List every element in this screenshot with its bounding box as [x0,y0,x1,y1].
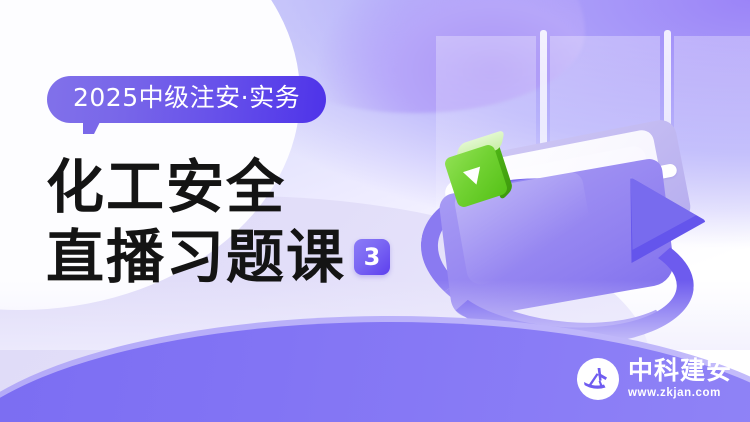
headline-line-2: 直播习题课 3 [46,222,466,292]
logo-website-url: www.zkjan.com [628,388,732,400]
headline-line-1-text: 化工安全 [46,153,286,221]
person-star-circle-icon [577,358,619,400]
course-badge: 2025中级注安·实务 [47,76,326,123]
course-badge-tail [83,120,101,134]
course-promo-banner: 2025中级注安·实务 化工安全 直播习题课 3 中科建安 www.z [0,0,750,422]
episode-number-badge: 3 [354,239,390,275]
headline-line-2-text: 直播习题课 [46,222,346,292]
brand-logo[interactable]: 中科建安 www.zkjan.com [577,358,732,400]
folder-with-documents-icon [430,118,740,348]
headline-line-1: 化工安全 [46,152,466,222]
logo-text-block: 中科建安 www.zkjan.com [628,358,732,400]
course-badge-label: 2025中级注安·实务 [47,76,326,123]
headline-block: 化工安全 直播习题课 3 [46,152,466,292]
logo-company-name: 中科建安 [628,358,732,383]
